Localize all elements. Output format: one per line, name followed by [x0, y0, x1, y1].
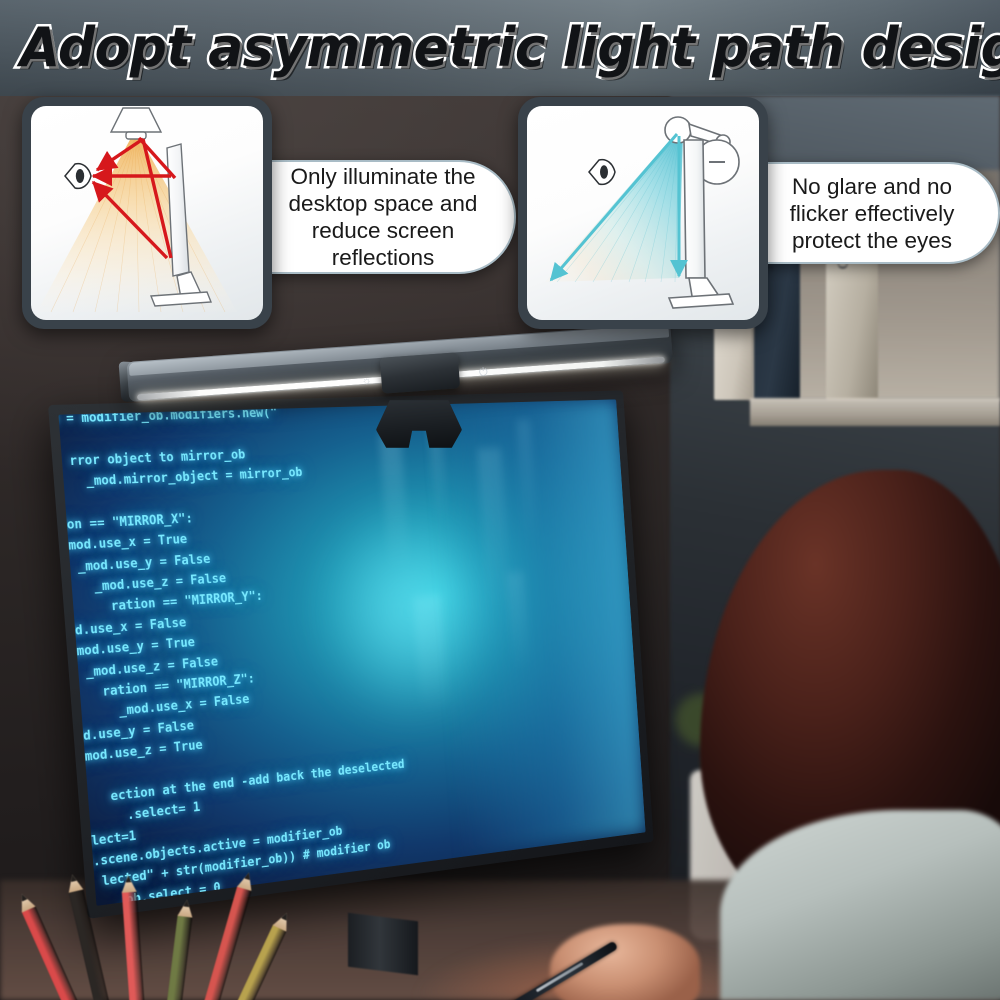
diagram-asymmetric-light-path [527, 106, 759, 320]
panel-traditional-lamp [22, 97, 272, 329]
power-icon[interactable]: ⏻ [474, 364, 492, 382]
pencil [122, 890, 145, 1000]
brightness-icon[interactable]: ☼ [358, 372, 376, 390]
eye-icon [65, 164, 91, 189]
screen-code-text: mod = modifier_ob.modifiers.new(" rror o… [58, 399, 645, 905]
pencil [235, 923, 287, 1000]
pencil [68, 887, 111, 1000]
callout-left: Only illuminate the desktop space and re… [252, 160, 516, 274]
person-hand [550, 924, 700, 1000]
monitor-light-bar[interactable]: ☼◑‖⏻ [128, 348, 688, 448]
eye-icon [589, 160, 615, 185]
callout-right: No glare and no flicker effectively prot… [748, 162, 1000, 264]
light-bar-control-knob[interactable] [380, 352, 460, 393]
monitor-bezel: mod = modifier_ob.modifiers.new(" rror o… [48, 390, 654, 918]
bookshelf-ledge [750, 398, 1000, 426]
product-marketing-image: Humor THE FO mod = modifier_ob.modifiers… [0, 0, 1000, 1000]
monitor-screen: mod = modifier_ob.modifiers.new(" rror o… [58, 399, 645, 905]
panel-traditional-lamp-inner [31, 106, 263, 320]
panel-monitor-light-bar-inner [527, 106, 759, 320]
page-title: Adopt asymmetric light path design [20, 16, 980, 88]
light-bar-mounting-clip [376, 400, 462, 448]
desk-lamp [111, 108, 161, 139]
panel-monitor-light-bar [518, 97, 768, 329]
pencil-cup [62, 870, 362, 1000]
diagram-warm-light-path [31, 106, 263, 320]
pencil [166, 914, 193, 1000]
